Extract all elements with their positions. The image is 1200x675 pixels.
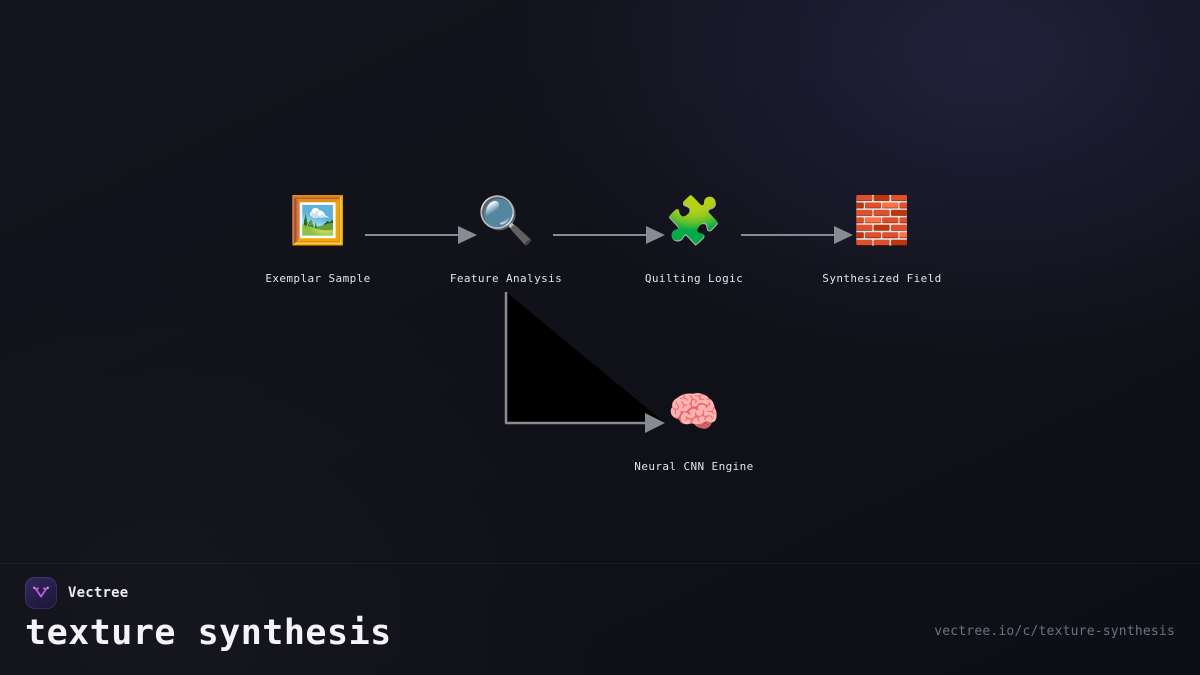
diagram-connectors [0, 0, 1200, 500]
pipeline-node-label: Neural CNN Engine [614, 460, 774, 473]
brand-row[interactable]: Vectree [25, 577, 128, 609]
magnifying-glass-icon: 🔍 [426, 194, 586, 246]
pipeline-node-label: Quilting Logic [614, 272, 774, 285]
brain-icon: 🧠 [614, 386, 774, 438]
pipeline-node-analysis[interactable]: 🔍 Feature Analysis [426, 194, 586, 285]
pipeline-node-label: Exemplar Sample [238, 272, 398, 285]
slide-canvas: 🖼️ Exemplar Sample 🔍 Feature Analysis 🧩 … [0, 0, 1200, 675]
pipeline-node-label: Synthesized Field [802, 272, 962, 285]
pipeline-node-exemplar[interactable]: 🖼️ Exemplar Sample [238, 194, 398, 285]
pipeline-node-neural[interactable]: 🧠 Neural CNN Engine [614, 386, 774, 473]
footer-divider [0, 563, 1200, 564]
vectree-branch-logo-icon [25, 577, 57, 609]
brand-name: Vectree [68, 585, 128, 601]
pipeline-diagram: 🖼️ Exemplar Sample 🔍 Feature Analysis 🧩 … [0, 0, 1200, 500]
framed-picture-icon: 🖼️ [238, 194, 398, 246]
puzzle-piece-icon: 🧩 [614, 194, 774, 246]
page-title: texture synthesis [25, 611, 392, 655]
footer-url: vectree.io/c/texture-synthesis [934, 624, 1175, 639]
brick-wall-icon: 🧱 [802, 194, 962, 246]
pipeline-node-quilting[interactable]: 🧩 Quilting Logic [614, 194, 774, 285]
pipeline-node-label: Feature Analysis [426, 272, 586, 285]
pipeline-node-synthesized[interactable]: 🧱 Synthesized Field [802, 194, 962, 285]
